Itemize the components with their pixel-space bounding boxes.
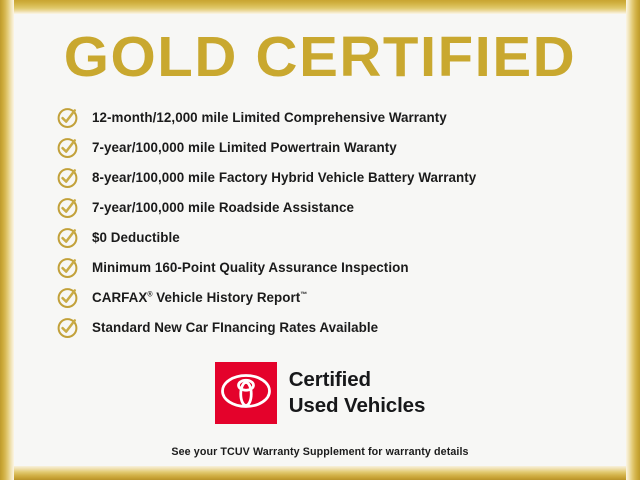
trademark-mark: ™ [300, 291, 307, 298]
list-item-label: CARFAX® Vehicle History Report™ [92, 290, 307, 305]
toyota-emblem-icon [221, 374, 271, 413]
list-item: 7-year/100,000 mile Roadside Assistance [56, 192, 616, 222]
list-item: $0 Deductible [56, 222, 616, 252]
lockup-line-1: Certified [289, 367, 426, 393]
carfax-wordmark: CARFAX [92, 290, 147, 305]
check-circle-icon [56, 226, 79, 249]
list-item: CARFAX® Vehicle History Report™ [56, 282, 616, 312]
check-circle-icon [56, 166, 79, 189]
benefits-list: 12-month/12,000 mile Limited Comprehensi… [56, 102, 616, 342]
check-circle-icon [56, 256, 79, 279]
check-circle-icon [56, 136, 79, 159]
list-item-label: $0 Deductible [92, 230, 180, 245]
check-circle-icon [56, 196, 79, 219]
list-item-label: 7-year/100,000 mile Limited Powertrain W… [92, 140, 397, 155]
frame-border-bottom [0, 466, 640, 480]
list-item: 8-year/100,000 mile Factory Hybrid Vehic… [56, 162, 616, 192]
check-circle-icon [56, 286, 79, 309]
toyota-certified-lockup: Certified Used Vehicles [14, 362, 626, 424]
list-item: 7-year/100,000 mile Limited Powertrain W… [56, 132, 616, 162]
frame-border-top [0, 0, 640, 14]
carfax-report-label: Vehicle History Report [153, 290, 301, 305]
lockup-text: Certified Used Vehicles [289, 367, 426, 419]
list-item: Minimum 160-Point Quality Assurance Insp… [56, 252, 616, 282]
toyota-logo-box [215, 362, 277, 424]
footer-disclaimer: See your TCUV Warranty Supplement for wa… [14, 446, 626, 458]
check-circle-icon [56, 106, 79, 129]
badge-panel: GOLD CERTIFIED 12-month/12,000 mile Limi… [14, 14, 626, 466]
list-item: 12-month/12,000 mile Limited Comprehensi… [56, 102, 616, 132]
list-item-label: Standard New Car FInancing Rates Availab… [92, 320, 378, 335]
page-title: GOLD CERTIFIED [8, 26, 632, 88]
list-item-label: Minimum 160-Point Quality Assurance Insp… [92, 260, 409, 275]
check-circle-icon [56, 316, 79, 339]
list-item-label: 12-month/12,000 mile Limited Comprehensi… [92, 110, 447, 125]
list-item-label: 8-year/100,000 mile Factory Hybrid Vehic… [92, 170, 476, 185]
list-item: Standard New Car FInancing Rates Availab… [56, 312, 616, 342]
gold-certified-badge: GOLD CERTIFIED 12-month/12,000 mile Limi… [0, 0, 640, 480]
list-item-label: 7-year/100,000 mile Roadside Assistance [92, 200, 354, 215]
lockup-line-2: Used Vehicles [289, 393, 426, 419]
